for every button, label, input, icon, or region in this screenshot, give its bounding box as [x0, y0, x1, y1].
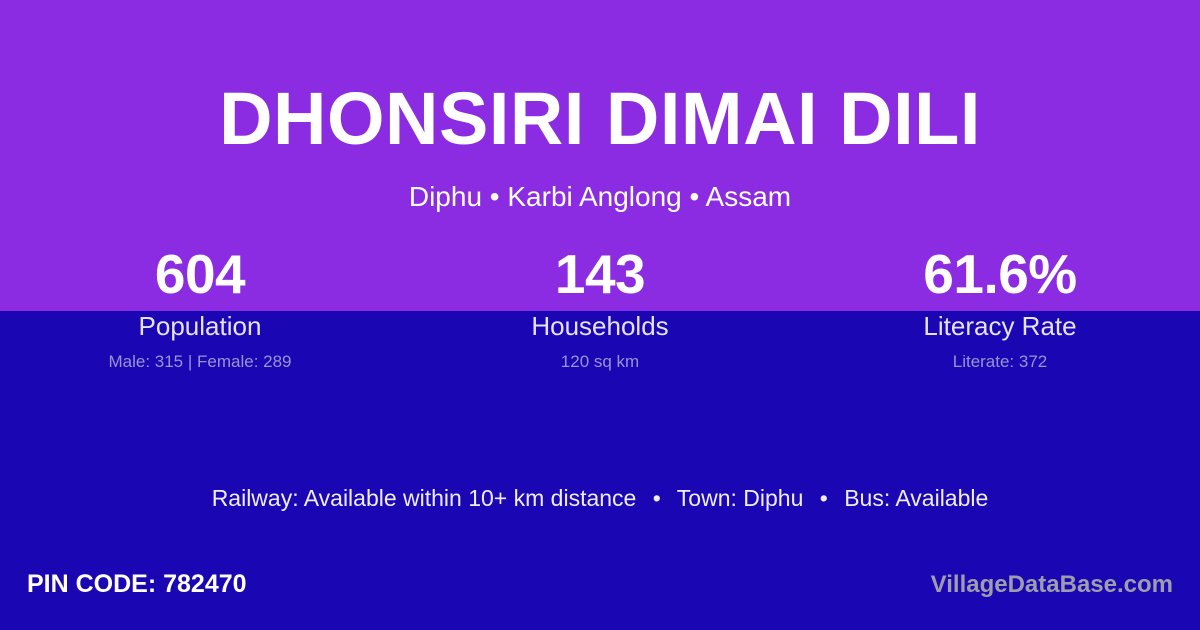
stat-value: 143	[400, 246, 800, 304]
stats-row: 604 Population Male: 315 | Female: 289 1…	[0, 246, 1200, 370]
pin-code: PIN CODE: 782470	[27, 572, 247, 597]
stat-sub: Literate: 372	[800, 353, 1200, 370]
card-footer: PIN CODE: 782470 VillageDataBase.com	[0, 560, 1200, 630]
stat-literacy-rate: 61.6% Literacy Rate Literate: 372	[800, 246, 1200, 370]
amenity-railway: Railway: Available within 10+ km distanc…	[212, 485, 637, 511]
stat-population: 604 Population Male: 315 | Female: 289	[0, 246, 400, 370]
amenity-town: Town: Diphu	[677, 485, 804, 511]
site-brand: VillageDataBase.com	[931, 573, 1173, 597]
stat-value: 61.6%	[800, 246, 1200, 304]
stat-households: 143 Households 120 sq km	[400, 246, 800, 370]
stat-value: 604	[0, 246, 400, 304]
breadcrumb: Diphu • Karbi Anglong • Assam	[0, 183, 1200, 211]
stat-sub: Male: 315 | Female: 289	[0, 353, 400, 370]
stat-label: Households	[400, 313, 800, 339]
page-title: DHONSIRI DIMAI DILI	[0, 82, 1200, 156]
stat-label: Literacy Rate	[800, 313, 1200, 339]
card-header: DHONSIRI DIMAI DILI Diphu • Karbi Anglon…	[0, 0, 1200, 240]
stat-sub: 120 sq km	[400, 353, 800, 370]
village-info-card: DHONSIRI DIMAI DILI Diphu • Karbi Anglon…	[0, 0, 1200, 630]
amenity-bus: Bus: Available	[844, 485, 988, 511]
stat-label: Population	[0, 313, 400, 339]
bullet-separator-icon: •	[810, 487, 838, 510]
bullet-separator-icon: •	[643, 487, 671, 510]
amenities-line: Railway: Available within 10+ km distanc…	[0, 487, 1200, 510]
